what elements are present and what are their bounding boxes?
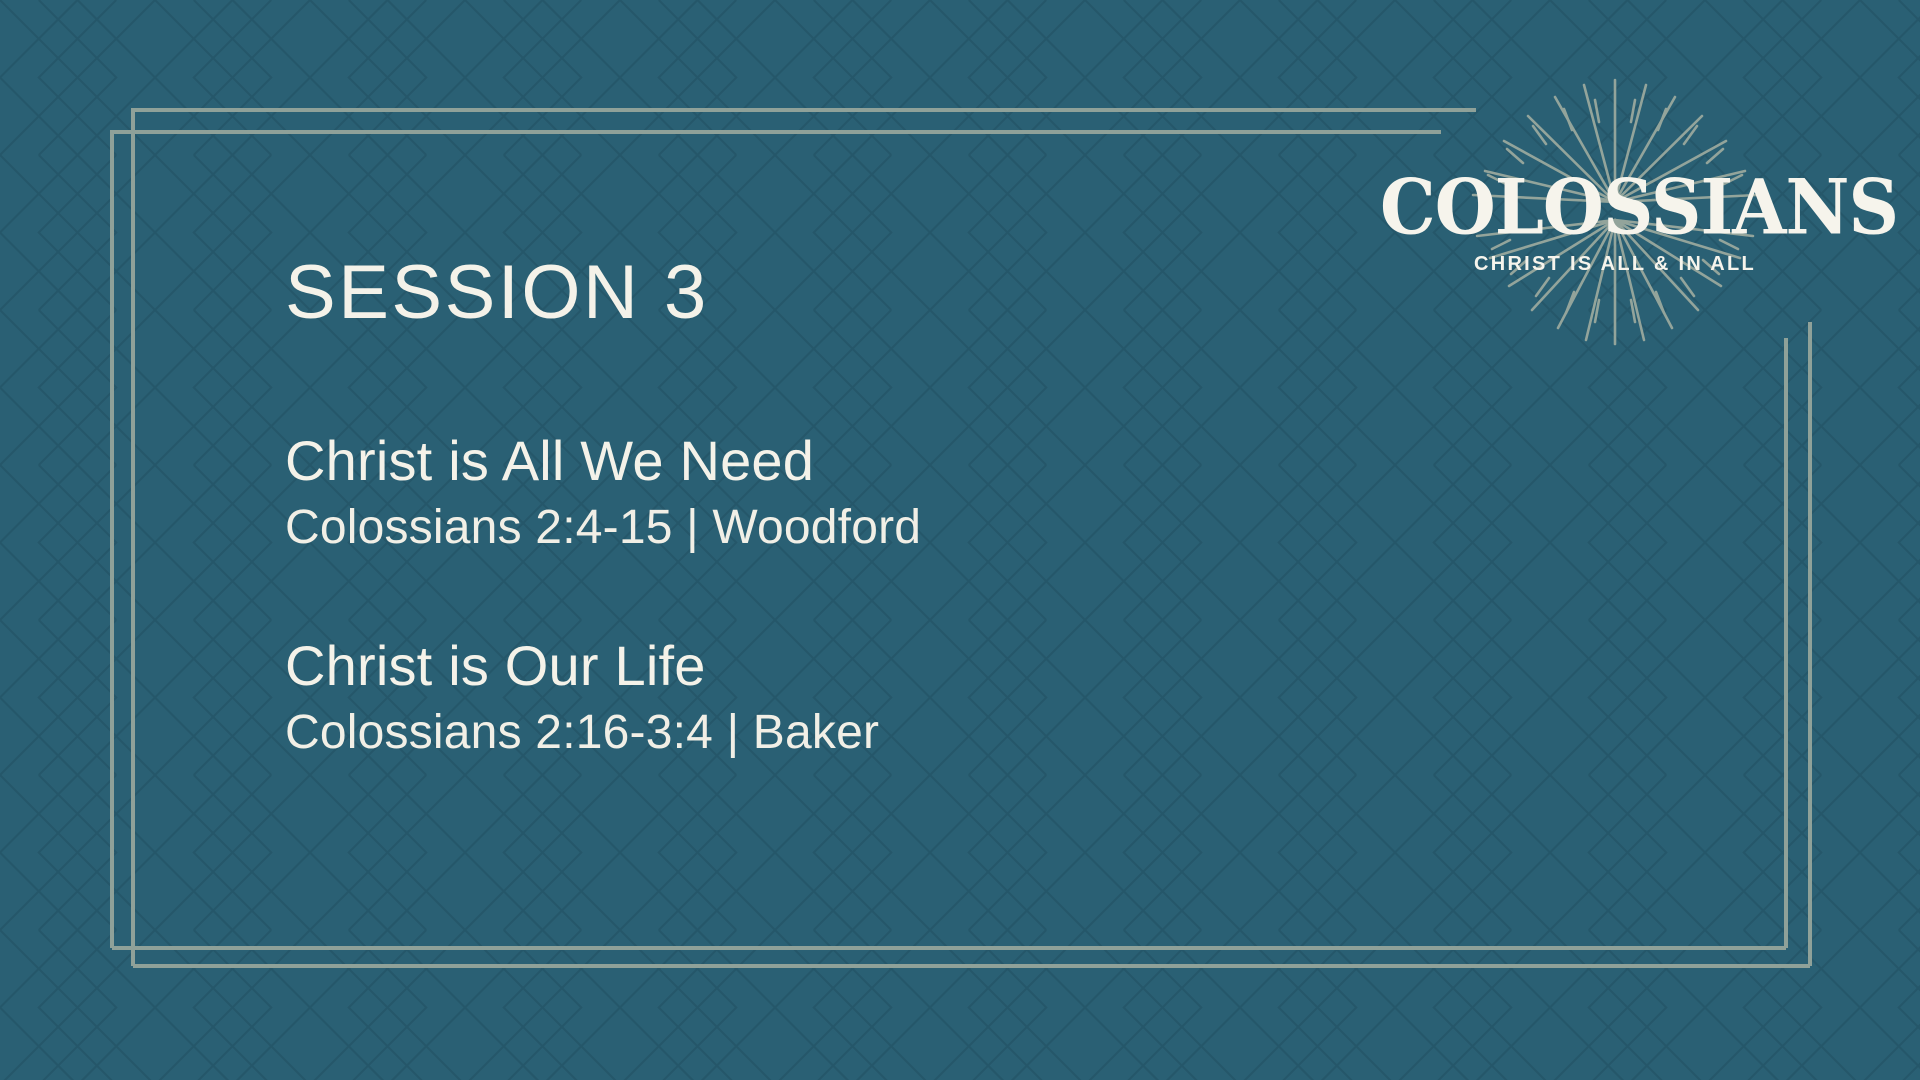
session-entry: Christ is Our Life Colossians 2:16-3:4 |… xyxy=(285,634,1285,761)
colossians-logo: COLOSSIANS CHRIST IS ALL & IN ALL xyxy=(1380,62,1850,362)
session-entry: Christ is All We Need Colossians 2:4-15 … xyxy=(285,429,1285,556)
presentation-slide: SESSION 3 Christ is All We Need Colossia… xyxy=(0,0,1920,1080)
session-title: Christ is All We Need xyxy=(285,429,1285,493)
session-reference: Colossians 2:4-15 | Woodford xyxy=(285,499,1285,557)
session-reference: Colossians 2:16-3:4 | Baker xyxy=(285,704,1285,762)
session-title: Christ is Our Life xyxy=(285,634,1285,698)
logo-tagline: CHRIST IS ALL & IN ALL xyxy=(1380,254,1850,274)
slide-text-block: SESSION 3 Christ is All We Need Colossia… xyxy=(285,255,1285,762)
page-title: SESSION 3 xyxy=(285,255,1285,331)
logo-wordmark: COLOSSIANS xyxy=(1380,170,1850,246)
logo-text-lockup: COLOSSIANS CHRIST IS ALL & IN ALL xyxy=(1380,170,1850,274)
